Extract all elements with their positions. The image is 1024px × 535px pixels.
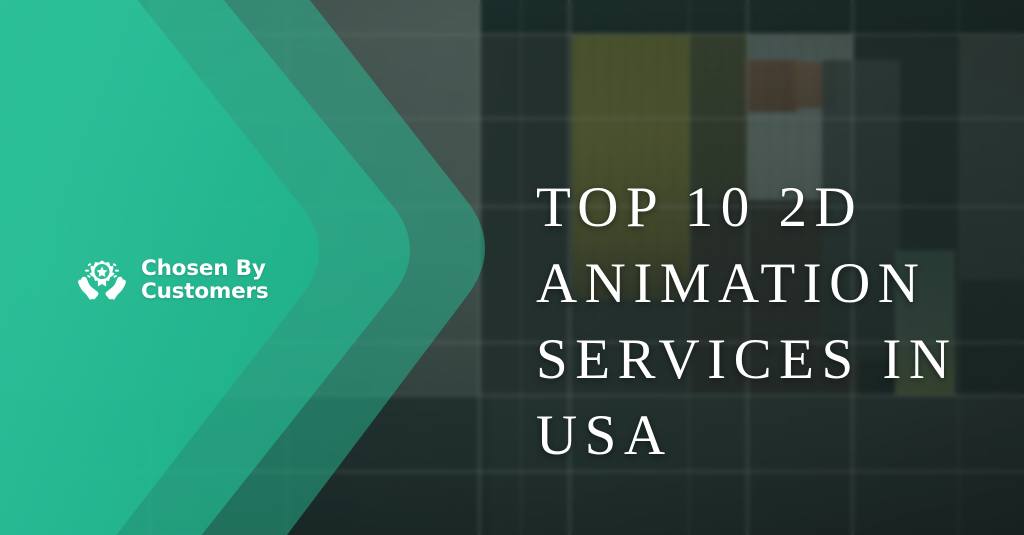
brand-logo[interactable]: Chosen By Customers bbox=[74, 252, 269, 308]
hands-holding-award-badge-icon bbox=[74, 252, 130, 308]
page-title: Top 10 2D Animation Services in USA bbox=[536, 170, 1024, 474]
brand-logo-text: Chosen By Customers bbox=[141, 257, 269, 303]
promo-banner: Chosen By Customers Top 10 2D Animation … bbox=[0, 0, 1024, 535]
